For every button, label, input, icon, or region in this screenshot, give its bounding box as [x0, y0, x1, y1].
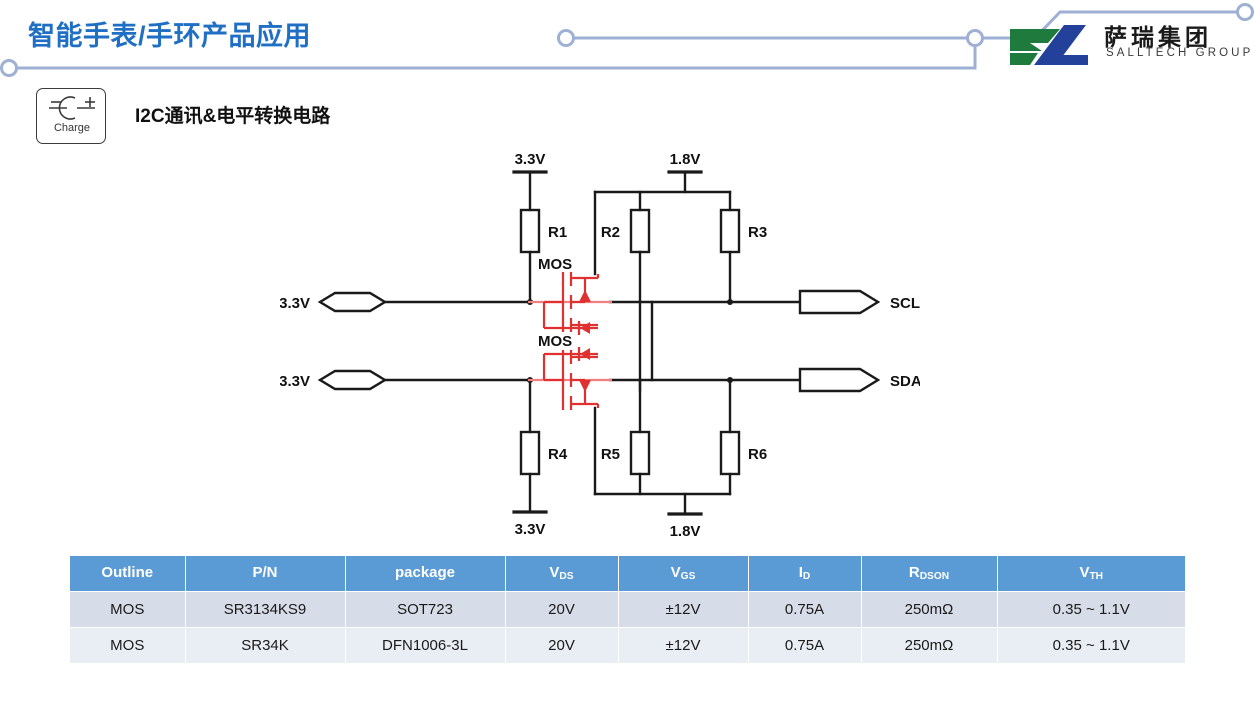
- cell-vth: 0.35 ~ 1.1V: [997, 592, 1185, 628]
- cell-pn: SR3134KS9: [185, 592, 345, 628]
- charge-battery-icon: [37, 93, 107, 123]
- spec-table: Outline P/N package VDS VGS ID RDSON VTH…: [70, 556, 1185, 663]
- port-sda-3v3-shape: [320, 371, 385, 389]
- resistor-R3-body: [721, 210, 739, 252]
- circuit-diagram: 3.3V 1.8V 3.3V 1.8V R1 R2 R3 R4 R5 R6 MO…: [280, 150, 920, 540]
- col-header-outline: Outline: [70, 556, 185, 592]
- label-R6: R6: [748, 446, 767, 463]
- cell-package: DFN1006-3L: [345, 628, 505, 664]
- resistor-R4-body: [521, 432, 539, 474]
- charge-badge-label: Charge: [37, 122, 107, 134]
- label-R5: R5: [601, 446, 620, 463]
- label-port-scl-1v8: SCL-1.8V: [890, 295, 920, 312]
- label-vcc-33-top: 3.3V: [515, 151, 546, 168]
- label-mos-top: MOS: [538, 256, 572, 273]
- label-port-scl-3v3: SCL-3.3V: [280, 295, 310, 312]
- col-header-rdson: RDSON: [861, 556, 997, 592]
- col-header-pn: P/N: [185, 556, 345, 592]
- logo-name-en: SALLTECH GROUP: [1106, 47, 1253, 59]
- brand-logo: 萨瑞集团 SALLTECH GROUP: [1008, 17, 1248, 72]
- page-header: 智能手表/手环产品应用 萨瑞集团 SALLTECH GROUP: [0, 0, 1255, 80]
- label-vcc-18-bot: 1.8V: [670, 523, 701, 540]
- cell-rdson: 250mΩ: [861, 592, 997, 628]
- cell-rdson: 250mΩ: [861, 628, 997, 664]
- label-R3: R3: [748, 224, 767, 241]
- table-row: MOS SR3134KS9 SOT723 20V ±12V 0.75A 250m…: [70, 592, 1185, 628]
- cell-vds: 20V: [505, 592, 618, 628]
- col-header-vth: VTH: [997, 556, 1185, 592]
- cell-outline: MOS: [70, 628, 185, 664]
- label-R4: R4: [548, 446, 568, 463]
- cell-vth: 0.35 ~ 1.1V: [997, 628, 1185, 664]
- label-R1: R1: [548, 224, 567, 241]
- cell-id: 0.75A: [748, 592, 861, 628]
- salltech-logo-icon: [1008, 21, 1092, 67]
- resistor-R5-body: [631, 432, 649, 474]
- resistor-R1-body: [521, 210, 539, 252]
- label-port-sda-1v8: SDA-1.8V: [890, 373, 920, 390]
- cell-id: 0.75A: [748, 628, 861, 664]
- cell-package: SOT723: [345, 592, 505, 628]
- page-title: 智能手表/手环产品应用: [28, 14, 311, 53]
- table-row: MOS SR34K DFN1006-3L 20V ±12V 0.75A 250m…: [70, 628, 1185, 664]
- label-R2: R2: [601, 224, 620, 241]
- port-scl-1v8-shape: [800, 291, 878, 313]
- col-header-vds: VDS: [505, 556, 618, 592]
- col-header-vgs: VGS: [618, 556, 748, 592]
- cell-vds: 20V: [505, 628, 618, 664]
- cell-vgs: ±12V: [618, 628, 748, 664]
- port-sda-1v8-shape: [800, 369, 878, 391]
- table-header-row: Outline P/N package VDS VGS ID RDSON VTH: [70, 556, 1185, 592]
- col-header-id: ID: [748, 556, 861, 592]
- cell-pn: SR34K: [185, 628, 345, 664]
- resistor-R6-body: [721, 432, 739, 474]
- resistor-R2-body: [631, 210, 649, 252]
- charge-badge: Charge: [36, 88, 106, 144]
- cell-outline: MOS: [70, 592, 185, 628]
- label-vcc-33-bot: 3.3V: [515, 521, 546, 538]
- cell-vgs: ±12V: [618, 592, 748, 628]
- label-mos-bottom: MOS: [538, 333, 572, 350]
- section-title: I2C通讯&电平转换电路: [135, 101, 330, 128]
- port-scl-3v3-shape: [320, 293, 385, 311]
- label-port-sda-3v3: SDA-3.3V: [280, 373, 310, 390]
- mos-bottom-symbol: [528, 347, 612, 410]
- label-vcc-18-top: 1.8V: [670, 151, 701, 168]
- mos-top-symbol: [528, 272, 612, 335]
- col-header-package: package: [345, 556, 505, 592]
